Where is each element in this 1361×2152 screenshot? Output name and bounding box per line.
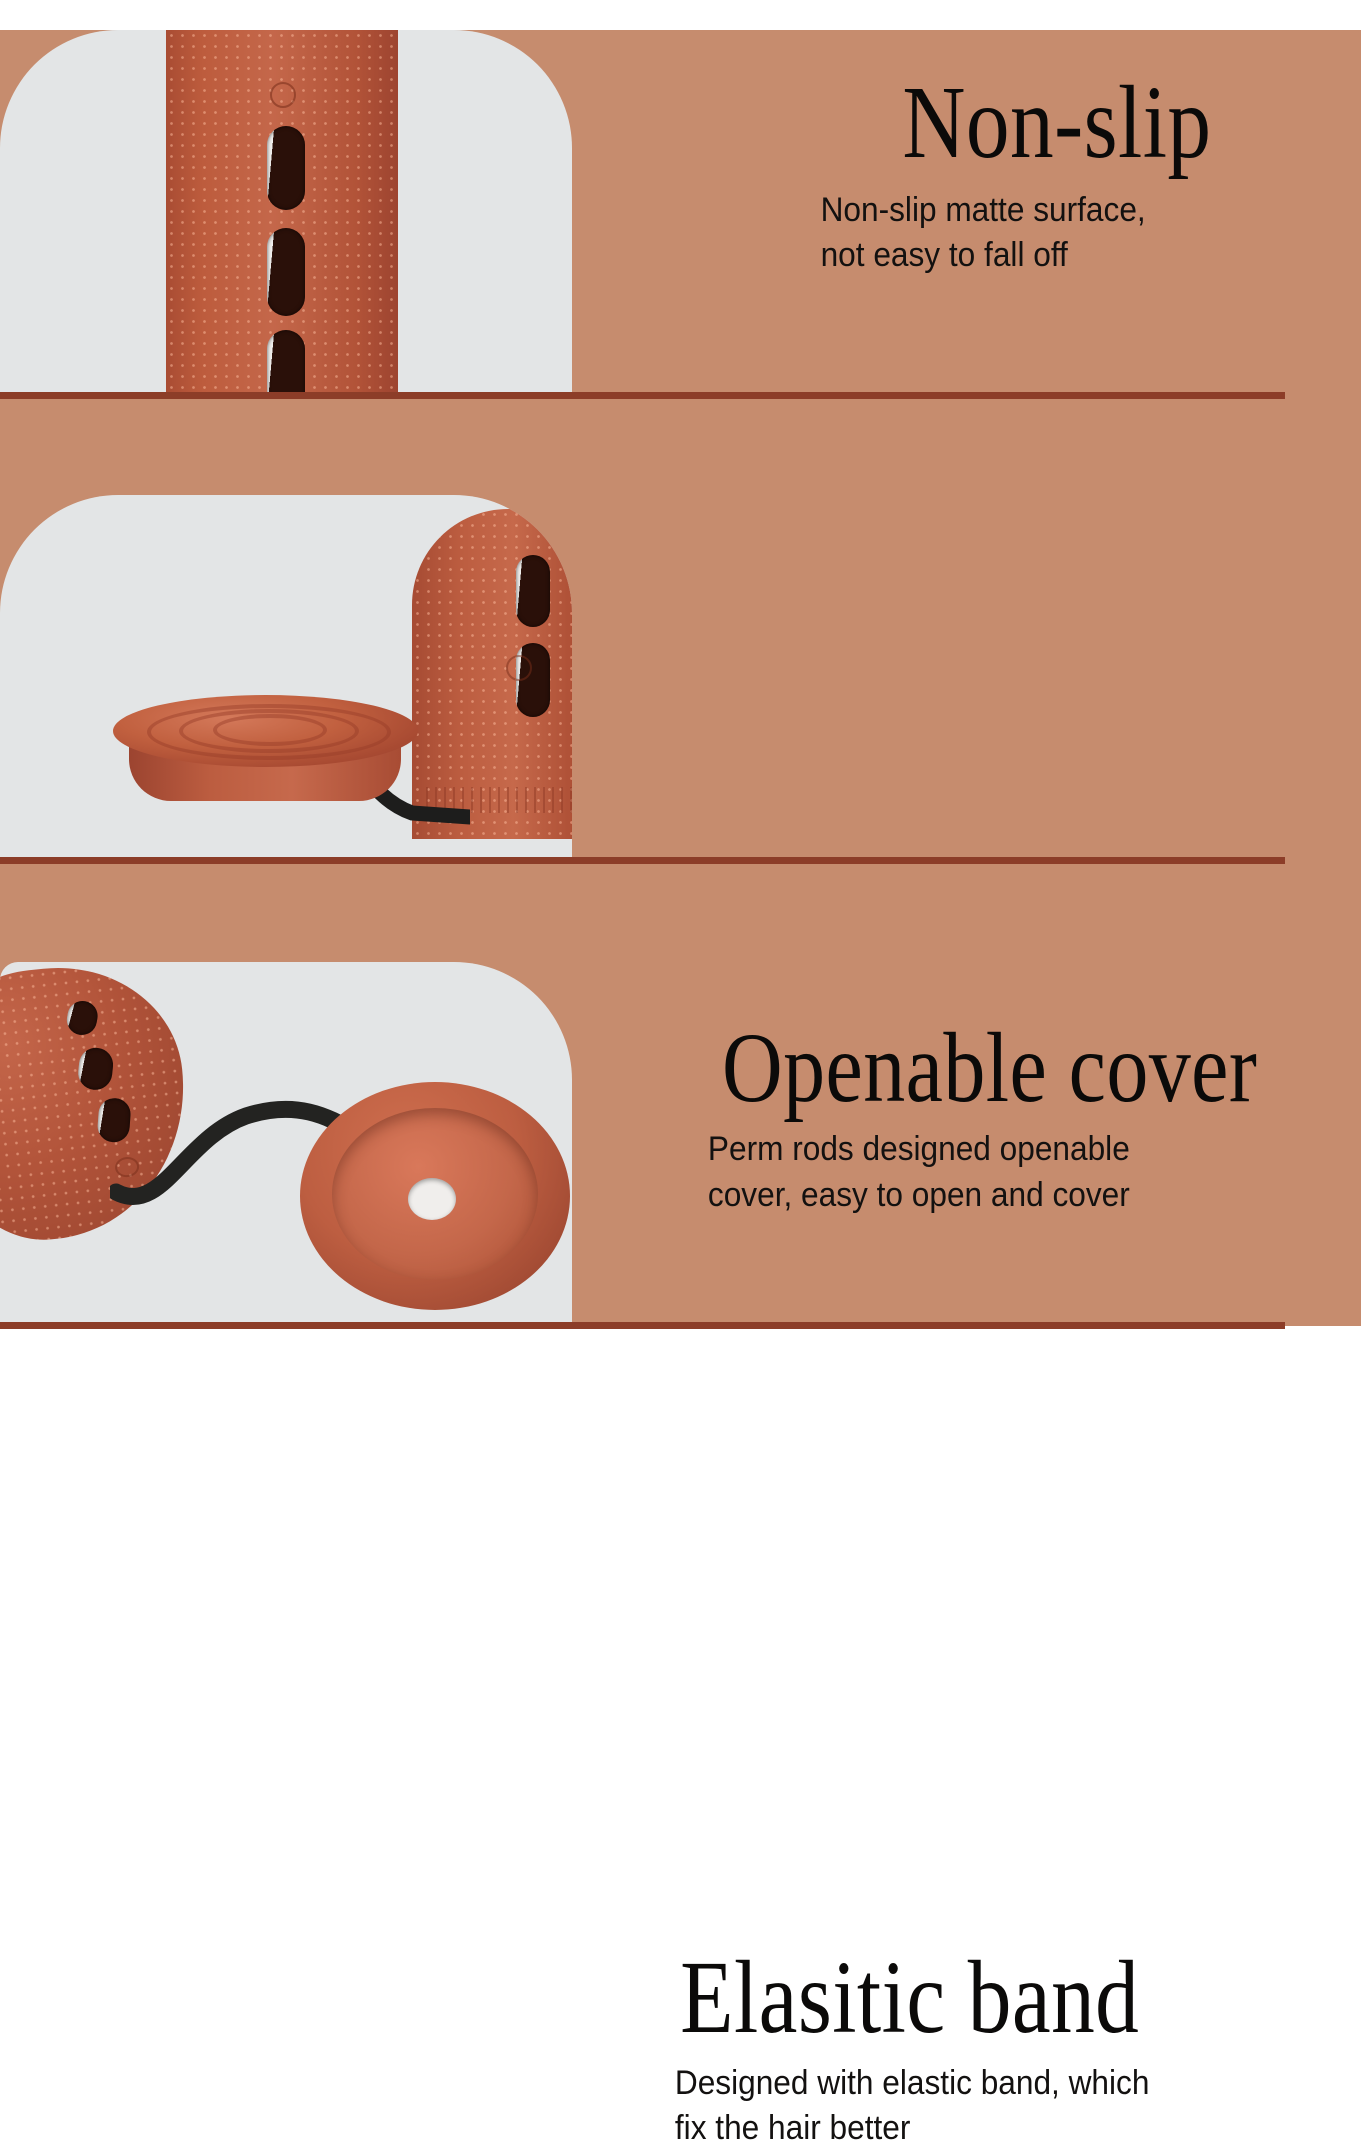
cap-center-hole	[408, 1178, 456, 1220]
feature-description: Designed with elastic band, which fix th…	[660, 2061, 1311, 2152]
feature-photo-openable-cover	[0, 495, 572, 858]
section-divider	[0, 857, 1285, 864]
rod-slot	[267, 330, 305, 393]
section-divider	[0, 1322, 1285, 1329]
feature-row-elastic-band: Elasitic band Designed with elastic band…	[0, 962, 1361, 1327]
rod-cap-open	[300, 1082, 570, 1322]
feature-description: Non-slip matte surface, not easy to fall…	[815, 188, 1299, 279]
section-divider	[0, 392, 1285, 399]
photo-scene-cap-and-rod	[0, 495, 572, 858]
rod-vent-circle-icon	[270, 82, 296, 108]
rod-vent-circle-icon	[506, 655, 532, 681]
photo-scene-rod-end-and-cap	[0, 962, 572, 1325]
rod-slot	[267, 126, 305, 210]
feature-text-non-slip: Non-slip Non-slip matte surface, not eas…	[815, 72, 1335, 279]
perm-rod-barrel	[166, 30, 398, 393]
feature-photo-non-slip	[0, 30, 572, 393]
rod-slot	[267, 228, 305, 316]
product-feature-infographic: Non-slip Non-slip matte surface, not eas…	[0, 0, 1361, 1361]
rod-cap-closed	[113, 695, 418, 805]
feature-headline: Non-slip	[815, 72, 1252, 174]
cap-spiral-ridge	[213, 714, 327, 746]
feature-row-non-slip: Non-slip Non-slip matte surface, not eas…	[0, 30, 1361, 395]
feature-row-openable-cover: Openable cover Perm rods designed openab…	[0, 495, 1361, 860]
feature-photo-elastic-band	[0, 962, 572, 1325]
feature-headline: Elasitic band	[660, 1947, 1248, 2049]
feature-text-elastic-band: Elasitic band Designed with elastic band…	[660, 1947, 1360, 2152]
rod-slot	[516, 555, 550, 627]
photo-scene-rod-barrel	[0, 30, 572, 393]
